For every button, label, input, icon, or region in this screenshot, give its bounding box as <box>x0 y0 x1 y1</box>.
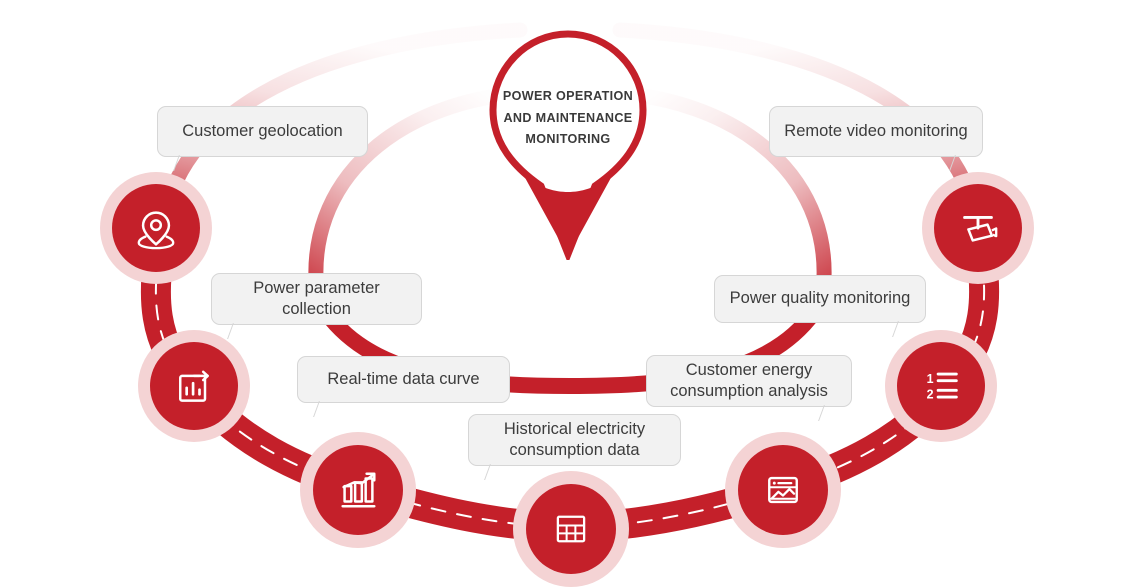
cctv-camera-icon <box>955 205 1001 251</box>
table-grid-icon <box>550 508 592 550</box>
label-text: Remote video monitoring <box>784 121 967 142</box>
svg-text:2: 2 <box>927 387 934 401</box>
label-text-line-1: Historical electricity <box>504 419 645 440</box>
diagram-canvas: POWER OPERATION AND MAINTENANCE MONITORI… <box>0 0 1139 587</box>
label-power-quality-monitoring[interactable]: Power quality monitoring <box>714 275 926 323</box>
pin-title-line-1: POWER OPERATION <box>499 86 637 108</box>
label-text-line-2: consumption data <box>509 440 639 461</box>
pin-title-line-3: MONITORING <box>499 129 637 151</box>
label-power-parameter-collection[interactable]: Power parameter collection <box>211 273 422 325</box>
node-customer-geolocation[interactable] <box>100 172 212 284</box>
node-power-quality-monitoring[interactable]: 1 2 <box>885 330 997 442</box>
label-customer-energy-consumption[interactable]: Customer energy consumption analysis <box>646 355 852 407</box>
label-text: Power quality monitoring <box>730 288 911 309</box>
center-pin: POWER OPERATION AND MAINTENANCE MONITORI… <box>483 28 653 260</box>
node-power-parameter-collection[interactable] <box>138 330 250 442</box>
label-text-line-2: consumption analysis <box>670 381 828 402</box>
label-text-line-1: Customer energy <box>686 360 813 381</box>
label-text: Customer geolocation <box>182 121 343 142</box>
chart-window-icon <box>761 468 805 512</box>
label-real-time-data-curve[interactable]: Real-time data curve <box>297 356 510 403</box>
growth-chart-icon <box>335 467 381 513</box>
node-remote-video-monitoring[interactable] <box>922 172 1034 284</box>
bar-chart-arrow-icon <box>172 364 216 408</box>
label-historical-electricity-data[interactable]: Historical electricity consumption data <box>468 414 681 466</box>
node-customer-energy-consumption[interactable] <box>725 432 841 548</box>
label-text-line-1: Power parameter <box>253 278 380 299</box>
node-real-time-data-curve[interactable] <box>300 432 416 548</box>
location-pin-icon <box>133 205 179 251</box>
node-historical-electricity-data[interactable] <box>513 471 629 587</box>
page-title: POWER OPERATION AND MAINTENANCE MONITORI… <box>499 86 637 151</box>
label-text-line-2: collection <box>282 299 351 320</box>
numbered-list-icon: 1 2 <box>918 363 964 409</box>
label-text: Real-time data curve <box>327 369 479 390</box>
label-customer-geolocation[interactable]: Customer geolocation <box>157 106 368 157</box>
label-remote-video-monitoring[interactable]: Remote video monitoring <box>769 106 983 157</box>
pin-title-line-2: AND MAINTENANCE <box>499 108 637 130</box>
svg-text:1: 1 <box>927 372 934 386</box>
